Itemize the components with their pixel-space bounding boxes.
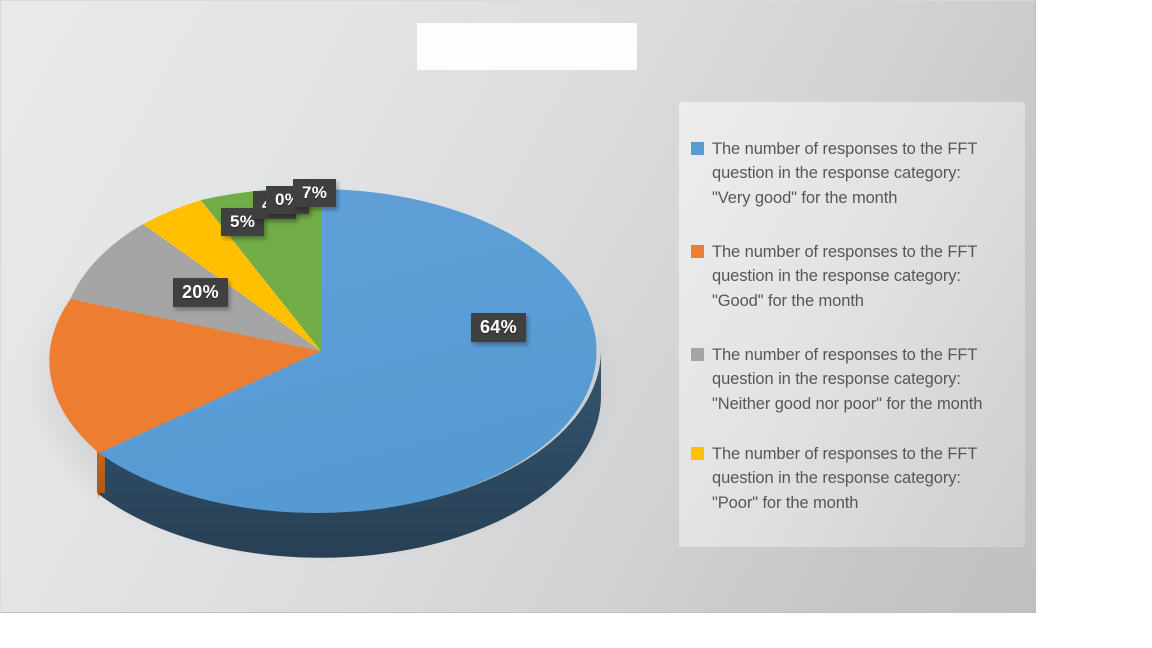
chart-legend[interactable]: The number of responses to the FFT quest… (679, 102, 1025, 547)
legend-item-neither-good-nor-poor[interactable]: The number of responses to the FFT quest… (679, 343, 999, 416)
pie-top-faces (49, 189, 596, 513)
legend-item-good[interactable]: The number of responses to the FFT quest… (679, 240, 999, 313)
data-label-dont-know[interactable]: 7% (293, 179, 336, 207)
data-label-good[interactable]: 20% (173, 278, 228, 307)
slide-title-placeholder[interactable] (417, 23, 637, 70)
pie-graphic (21, 81, 661, 581)
legend-item-very-good[interactable]: The number of responses to the FFT quest… (679, 137, 999, 210)
legend-label-neither-good-nor-poor: The number of responses to the FFT quest… (712, 343, 985, 416)
data-label-very-good[interactable]: 64% (471, 313, 526, 342)
legend-swatch-neither-good-nor-poor (691, 348, 704, 361)
legend-label-very-good: The number of responses to the FFT quest… (712, 137, 985, 210)
legend-label-poor: The number of responses to the FFT quest… (712, 442, 985, 515)
slide-canvas: 20% 5% 4% 0% 7% 64% The number of respon… (0, 0, 1036, 613)
pie-chart[interactable]: 20% 5% 4% 0% 7% 64% (21, 81, 661, 581)
pie-svg (21, 81, 661, 581)
legend-item-poor[interactable]: The number of responses to the FFT quest… (679, 442, 999, 515)
legend-label-good: The number of responses to the FFT quest… (712, 240, 985, 313)
legend-swatch-very-good (691, 142, 704, 155)
legend-swatch-good (691, 245, 704, 258)
legend-swatch-poor (691, 447, 704, 460)
